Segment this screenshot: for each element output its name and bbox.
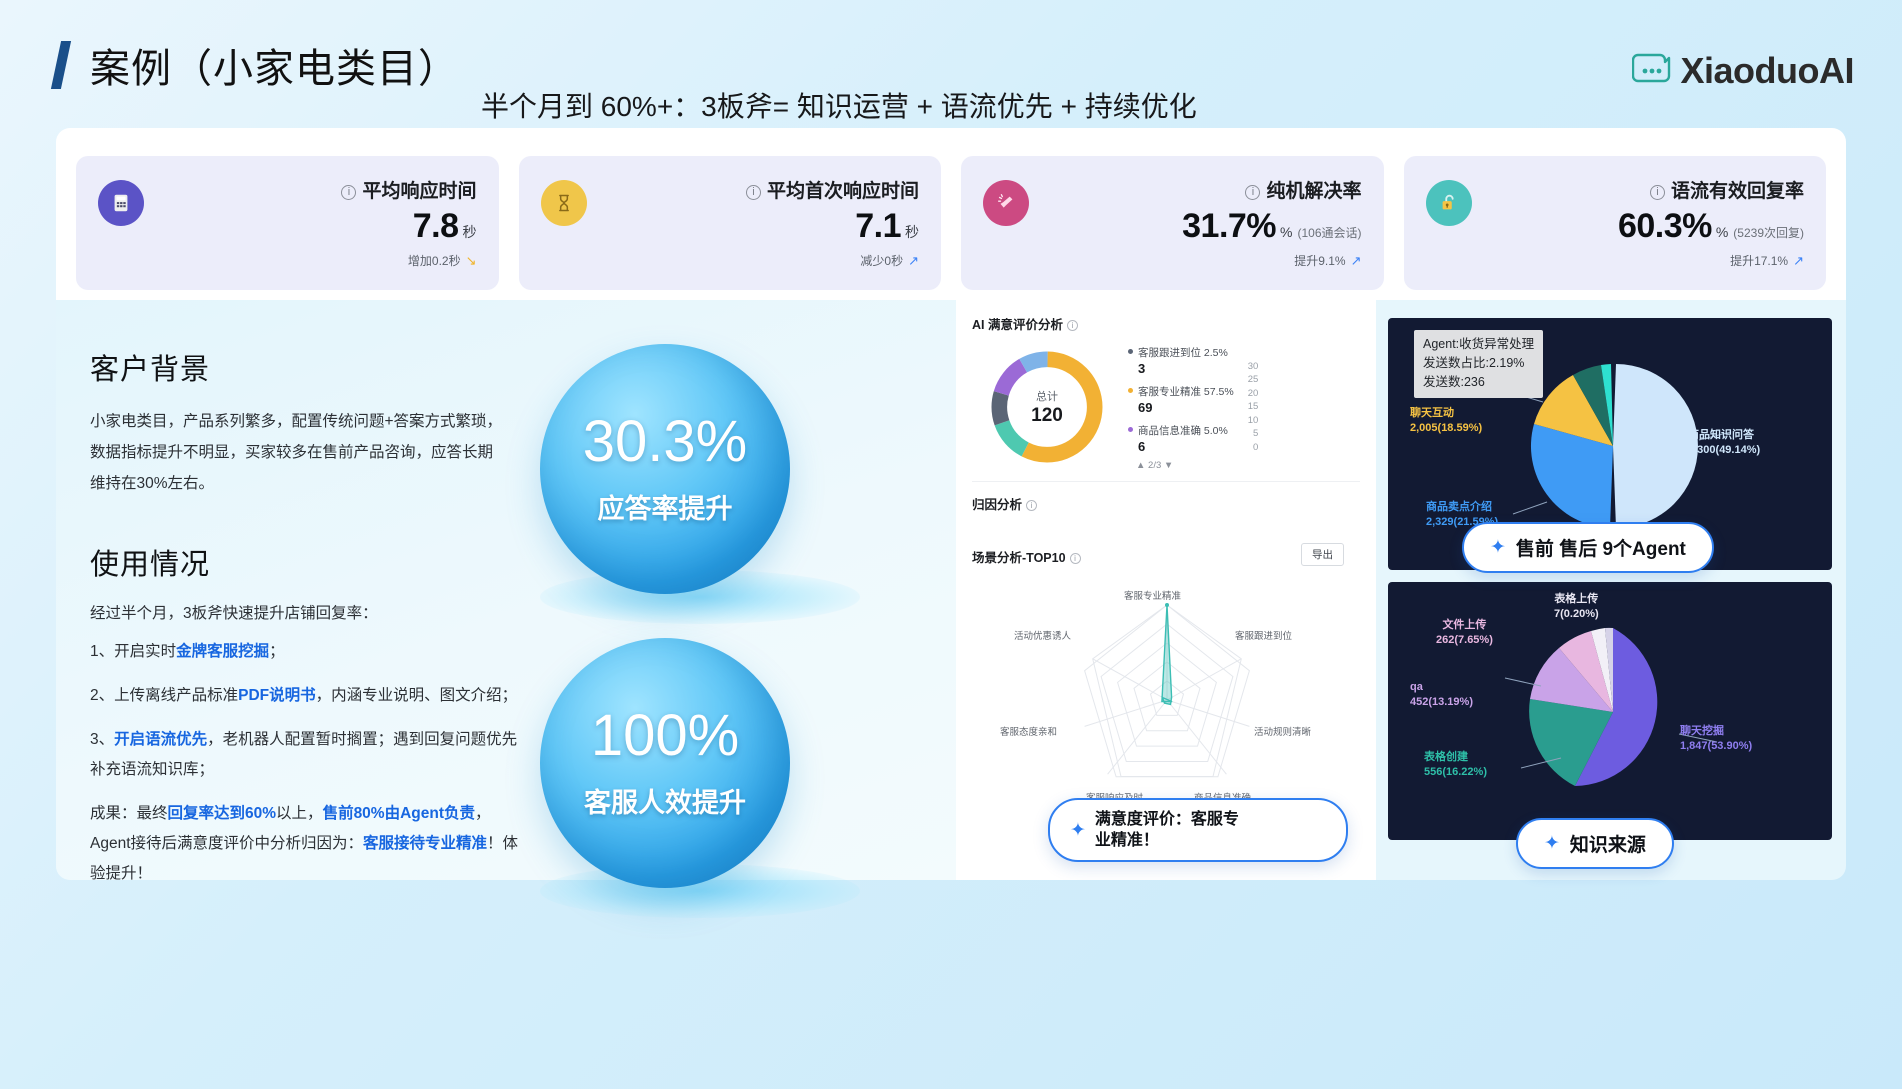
pie-label-qa: qa 452(13.19%)	[1410, 680, 1473, 710]
kpi-card-first-response: i平均首次响应时间 7.1秒 减少0秒↗	[519, 156, 942, 290]
donut-axis-ticks: 30 25 20 15 10 5 0	[1248, 360, 1259, 455]
arrow-down-icon: ↘	[466, 253, 477, 268]
legend-pager[interactable]: ▲ 2/3 ▼	[1136, 460, 1234, 471]
kpi-delta: 增加0.2秒↘	[341, 252, 476, 269]
callout-satisfaction: ✦ 满意度评价：客服专业精准！	[1048, 798, 1348, 862]
sparkle-icon: ✦	[1490, 538, 1506, 557]
kpi-label: i语流有效回复率	[1618, 176, 1804, 203]
info-icon[interactable]: i	[1026, 500, 1037, 511]
kpi-delta: 提升9.1%↗	[1182, 252, 1361, 269]
kpi-label: i平均响应时间	[341, 176, 476, 203]
telephone-icon	[98, 180, 144, 226]
kpi-value: 7.8秒	[341, 207, 476, 246]
hourglass-icon	[541, 180, 587, 226]
megaphone-icon	[983, 180, 1029, 226]
pie-label-table-create: 表格创建 556(16.22%)	[1424, 750, 1487, 780]
legend-item: 客服专业精准 57.5% 69	[1128, 382, 1234, 415]
page-header: 案例（小家电类目） 半个月到 60%+：3板斧= 知识运营 + 语流优先 + 持…	[0, 0, 1902, 130]
bubble-efficiency-wrap: 100% 客服人效提升	[540, 638, 860, 918]
panel-title-attribution: 归因分析i	[972, 494, 1360, 513]
brand-logo: XiaoduoAI	[1632, 50, 1855, 92]
unlock-icon	[1426, 180, 1472, 226]
usage-item-3: 3、开启语流优先，老机器人配置暂时搁置；遇到回复问题优先 补充语流知识库；	[90, 725, 610, 785]
satisfaction-dashboard: AI 满意评价分析i 总计 120	[956, 300, 1376, 880]
info-icon[interactable]: i	[1245, 185, 1260, 200]
pill-knowledge-source: ✦ 知识来源	[1516, 818, 1674, 869]
panel-attribution: 归因分析i	[972, 494, 1360, 513]
pie-label-chat-interaction: 聊天互动 2,005(18.59%)	[1410, 406, 1482, 436]
arrow-up-icon: ↗	[1793, 253, 1804, 268]
info-icon[interactable]: i	[341, 185, 356, 200]
donut-legend: 客服跟进到位 2.5% 3 客服专业精准 57.5% 69 商品信息准确 5.0…	[1128, 343, 1234, 471]
kpi-delta: 提升17.1%↗	[1618, 252, 1804, 269]
knowledge-source-card: 聊天挖掘 1,847(53.90%) 表格创建 556(16.22%) qa 4…	[1388, 582, 1832, 840]
divider	[972, 481, 1360, 482]
right-dashboard-column: Agent:收货异常处理 发送数占比:2.19% 发送数:236 商品知识问答 …	[1376, 300, 1846, 880]
highlight-bubbles: 30.3% 应答率提升 100% 客服人效提升	[540, 344, 860, 918]
radar-axis-label: 客服跟进到位	[1235, 628, 1292, 642]
kpi-value: 31.7%%(106通会话)	[1182, 207, 1361, 246]
pill-agent-count: ✦ 售前 售后 9个Agent	[1462, 522, 1714, 573]
brand-name: XiaoduoAI	[1681, 50, 1855, 92]
radar-axis-label: 客服态度亲和	[1000, 724, 1057, 738]
pie-tooltip: Agent:收货异常处理 发送数占比:2.19% 发送数:236	[1414, 330, 1543, 398]
pie-label-chat-mining: 聊天挖掘 1,847(53.90%)	[1680, 724, 1752, 754]
panel-title-ai-satisfaction: AI 满意评价分析i	[972, 314, 1360, 333]
info-icon[interactable]: i	[1067, 320, 1078, 331]
usage-result: 成果：最终回复率达到60%以上，售前80%由Agent负责， Agent接待后满…	[90, 799, 610, 889]
pie-label-product-knowledge: 商品知识问答 5,300(49.14%)	[1688, 428, 1760, 458]
content-board: 客户背景 小家电类目，产品系列繁多，配置传统问题+答案方式繁琐， 数据指标提升不…	[56, 300, 1846, 880]
info-icon[interactable]: i	[746, 185, 761, 200]
donut-chart-row: 总计 120 客服跟进到位 2.5% 3 客服专业精准 57.5% 69 商品信…	[972, 343, 1360, 471]
pie-label-file-upload: 文件上传 262(7.65%)	[1436, 618, 1493, 648]
radar-axis-label: 客服专业精准	[1124, 588, 1181, 602]
sparkle-icon: ✦	[1544, 834, 1560, 853]
legend-item: 客服跟进到位 2.5% 3	[1128, 343, 1234, 376]
chat-robot-icon	[1632, 51, 1672, 92]
kpi-label: i平均首次响应时间	[746, 176, 919, 203]
pie-label-table-upload: 表格上传 7(0.20%)	[1554, 592, 1599, 622]
info-icon[interactable]: i	[1650, 185, 1665, 200]
sparkle-icon: ✦	[1070, 821, 1086, 840]
title-accent-bar	[51, 41, 71, 89]
left-narrative-column: 客户背景 小家电类目，产品系列繁多，配置传统问题+答案方式繁琐， 数据指标提升不…	[56, 300, 956, 880]
kpi-card-avg-response: i平均响应时间 7.8秒 增加0.2秒↘	[76, 156, 499, 290]
kpi-value: 60.3%%(5239次回复)	[1618, 207, 1804, 246]
scenario-radar-chart: 客服专业精准 客服跟进到位 活动规则清晰 商品信息准确 客服响应及时 客服态度亲…	[972, 572, 1360, 822]
bubble-agent-efficiency: 100% 客服人效提升	[540, 638, 790, 888]
kpi-value: 7.1秒	[746, 207, 919, 246]
radar-axis-label: 活动规则清晰	[1254, 724, 1311, 738]
kpi-panel: i平均响应时间 7.8秒 增加0.2秒↘ i平均首次响应时间 7.1秒 减少0秒…	[56, 128, 1846, 300]
kpi-card-bot-resolution: i纯机解决率 31.7%%(106通会话) 提升9.1%↗	[961, 156, 1384, 290]
usage-item-2: 2、上传离线产品标准PDF说明书，内涵专业说明、图文介绍；	[90, 681, 610, 711]
bubble-response-rate: 30.3% 应答率提升	[540, 344, 790, 594]
arrow-up-icon: ↗	[1351, 253, 1362, 268]
export-button[interactable]: 导出	[1301, 543, 1344, 566]
usage-item-1: 1、开启实时金牌客服挖掘；	[90, 637, 610, 667]
radar-axis-label: 活动优惠诱人	[1014, 628, 1071, 642]
satisfaction-donut-chart: 总计 120	[984, 344, 1110, 470]
legend-item: 商品信息准确 5.0% 6	[1128, 421, 1234, 454]
page-subtitle: 半个月到 60%+：3板斧= 知识运营 + 语流优先 + 持续优化	[481, 85, 1197, 130]
page-title: 案例（小家电类目）	[90, 36, 459, 94]
kpi-delta: 减少0秒↗	[746, 252, 919, 269]
kpi-label: i纯机解决率	[1182, 176, 1361, 203]
panel-scenario: 场景分析-TOP10i 导出	[972, 547, 1360, 566]
background-paragraph: 小家电类目，产品系列繁多，配置传统问题+答案方式繁琐， 数据指标提升不明显，买家…	[90, 406, 590, 499]
donut-center-label: 总计 120	[984, 344, 1110, 470]
arrow-up-icon: ↗	[908, 253, 919, 268]
info-icon[interactable]: i	[1070, 553, 1081, 564]
kpi-card-flow-reply: i语流有效回复率 60.3%%(5239次回复) 提升17.1%↗	[1404, 156, 1827, 290]
